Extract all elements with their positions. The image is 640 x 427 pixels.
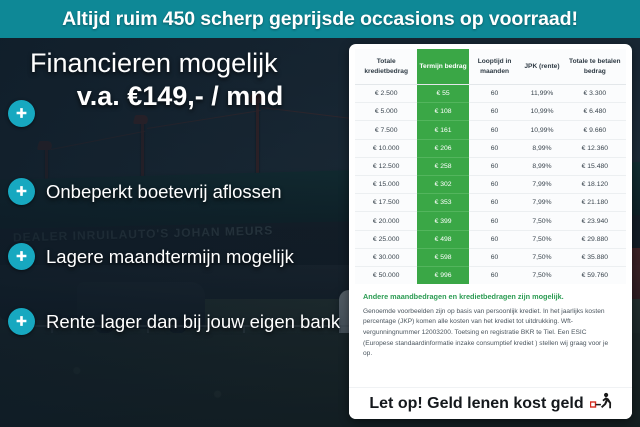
table-row: € 17.500 € 353 60 7,99% € 21.180: [355, 194, 626, 212]
credit-warning-bar: Let op! Geld lenen kost geld: [349, 387, 632, 419]
headline-text: Altijd ruim 450 scherp geprijsde occasio…: [62, 8, 578, 31]
cell-totaal: € 12.360: [564, 139, 626, 157]
cell-termijn: € 258: [417, 157, 468, 175]
cell-looptijd: 60: [469, 139, 520, 157]
column-header-looptijd: Looptijd in maanden: [469, 49, 520, 85]
left-content-column: Financieren mogelijk v.a. €149,- / mnd O…: [0, 38, 348, 427]
cell-totaal: € 35.880: [564, 248, 626, 266]
financing-table: Totale kredietbedrag Termijn bedrag Loop…: [355, 49, 626, 284]
financing-table-card: Totale kredietbedrag Termijn bedrag Loop…: [349, 44, 632, 419]
cell-termijn: € 399: [417, 212, 468, 230]
cell-krediet: € 17.500: [355, 194, 417, 212]
cell-looptijd: 60: [469, 121, 520, 139]
plus-icon: [8, 178, 35, 205]
cell-totaal: € 21.180: [564, 194, 626, 212]
cell-krediet: € 5.000: [355, 103, 417, 121]
disclaimer-notes: Andere maandbedragen en kredietbedragen …: [349, 286, 632, 360]
table-row: € 7.500 € 161 60 10,99% € 9.660: [355, 121, 626, 139]
cell-krediet: € 15.000: [355, 176, 417, 194]
promo-banner: DEALER INRUILAUTO'S JOHAN MEURS Altijd r…: [0, 0, 640, 427]
cell-termijn: € 353: [417, 194, 468, 212]
benefit-item: Lagere maandtermijn mogelijk: [8, 243, 348, 270]
cell-jkp: 7,50%: [520, 212, 563, 230]
cell-totaal: € 23.940: [564, 212, 626, 230]
column-header-krediet: Totale kredietbedrag: [355, 49, 417, 85]
financing-table-wrap: Totale kredietbedrag Termijn bedrag Loop…: [349, 44, 632, 286]
cell-krediet: € 50.000: [355, 266, 417, 284]
cell-totaal: € 59.760: [564, 266, 626, 284]
cell-krediet: € 25.000: [355, 230, 417, 248]
cell-termijn: € 996: [417, 266, 468, 284]
notes-title: Andere maandbedragen en kredietbedragen …: [363, 292, 618, 301]
benefit-label: Lagere maandtermijn mogelijk: [46, 246, 294, 267]
table-row: € 25.000 € 498 60 7,50% € 29.880: [355, 230, 626, 248]
cell-jkp: 10,99%: [520, 121, 563, 139]
cell-looptijd: 60: [469, 85, 520, 103]
table-row: € 12.500 € 258 60 8,99% € 15.480: [355, 157, 626, 175]
cell-krediet: € 7.500: [355, 121, 417, 139]
credit-warning-text: Let op! Geld lenen kost geld: [369, 395, 583, 413]
cell-krediet: € 2.500: [355, 85, 417, 103]
table-body: € 2.500 € 55 60 11,99% € 3.300 € 5.000 €…: [355, 85, 626, 285]
cell-jkp: 7,50%: [520, 248, 563, 266]
cell-jkp: 10,99%: [520, 103, 563, 121]
cell-looptijd: 60: [469, 103, 520, 121]
cell-jkp: 7,50%: [520, 266, 563, 284]
plus-icon: [8, 308, 35, 335]
column-header-jkp: JPK (rente): [520, 49, 563, 85]
cell-jkp: 7,99%: [520, 176, 563, 194]
benefit-item: Onbeperkt boetevrij aflossen: [8, 178, 348, 205]
afm-walking-person-icon: [590, 392, 612, 416]
cell-termijn: € 302: [417, 176, 468, 194]
column-header-totaal: Totale te betalen bedrag: [564, 49, 626, 85]
table-row: € 10.000 € 206 60 8,99% € 12.360: [355, 139, 626, 157]
table-row: € 20.000 € 399 60 7,50% € 23.940: [355, 212, 626, 230]
cell-krediet: € 10.000: [355, 139, 417, 157]
cell-looptijd: 60: [469, 194, 520, 212]
cell-totaal: € 9.660: [564, 121, 626, 139]
plus-icon: [8, 243, 35, 270]
headline-bar: Altijd ruim 450 scherp geprijsde occasio…: [0, 0, 640, 38]
plus-icon: [8, 100, 35, 127]
cell-krediet: € 12.500: [355, 157, 417, 175]
cell-jkp: 8,99%: [520, 157, 563, 175]
offer-heading: Financieren mogelijk v.a. €149,- / mnd: [0, 44, 348, 112]
cell-totaal: € 6.480: [564, 103, 626, 121]
table-row: € 30.000 € 598 60 7,50% € 35.880: [355, 248, 626, 266]
cell-jkp: 7,50%: [520, 230, 563, 248]
benefit-list: Onbeperkt boetevrij aflossen Lagere maan…: [8, 178, 348, 373]
cell-termijn: € 598: [417, 248, 468, 266]
cell-jkp: 11,99%: [520, 85, 563, 103]
cell-krediet: € 20.000: [355, 212, 417, 230]
cell-looptijd: 60: [469, 157, 520, 175]
table-header-row: Totale kredietbedrag Termijn bedrag Loop…: [355, 49, 626, 85]
cell-termijn: € 108: [417, 103, 468, 121]
cell-totaal: € 29.880: [564, 230, 626, 248]
cell-totaal: € 18.120: [564, 176, 626, 194]
cell-looptijd: 60: [469, 266, 520, 284]
cell-jkp: 7,99%: [520, 194, 563, 212]
cell-looptijd: 60: [469, 230, 520, 248]
cell-termijn: € 55: [417, 85, 468, 103]
notes-body: Genoemde voorbeelden zijn op basis van p…: [363, 307, 618, 360]
offer-heading-line1: Financieren mogelijk: [30, 48, 342, 80]
column-header-termijn: Termijn bedrag: [417, 49, 468, 85]
table-row: € 2.500 € 55 60 11,99% € 3.300: [355, 85, 626, 103]
offer-heading-line2: v.a. €149,- / mnd: [30, 80, 342, 112]
cell-termijn: € 206: [417, 139, 468, 157]
cell-looptijd: 60: [469, 212, 520, 230]
benefit-label: Rente lager dan bij jouw eigen bank: [46, 311, 340, 332]
table-row: € 15.000 € 302 60 7,99% € 18.120: [355, 176, 626, 194]
cell-looptijd: 60: [469, 248, 520, 266]
benefit-label: Onbeperkt boetevrij aflossen: [46, 181, 282, 202]
table-head: Totale kredietbedrag Termijn bedrag Loop…: [355, 49, 626, 85]
table-row: € 5.000 € 108 60 10,99% € 6.480: [355, 103, 626, 121]
cell-jkp: 8,99%: [520, 139, 563, 157]
cell-termijn: € 498: [417, 230, 468, 248]
cell-looptijd: 60: [469, 176, 520, 194]
cell-termijn: € 161: [417, 121, 468, 139]
cell-totaal: € 3.300: [564, 85, 626, 103]
cell-krediet: € 30.000: [355, 248, 417, 266]
table-row: € 50.000 € 996 60 7,50% € 59.760: [355, 266, 626, 284]
cell-totaal: € 15.480: [564, 157, 626, 175]
benefit-item: Rente lager dan bij jouw eigen bank: [8, 308, 348, 335]
